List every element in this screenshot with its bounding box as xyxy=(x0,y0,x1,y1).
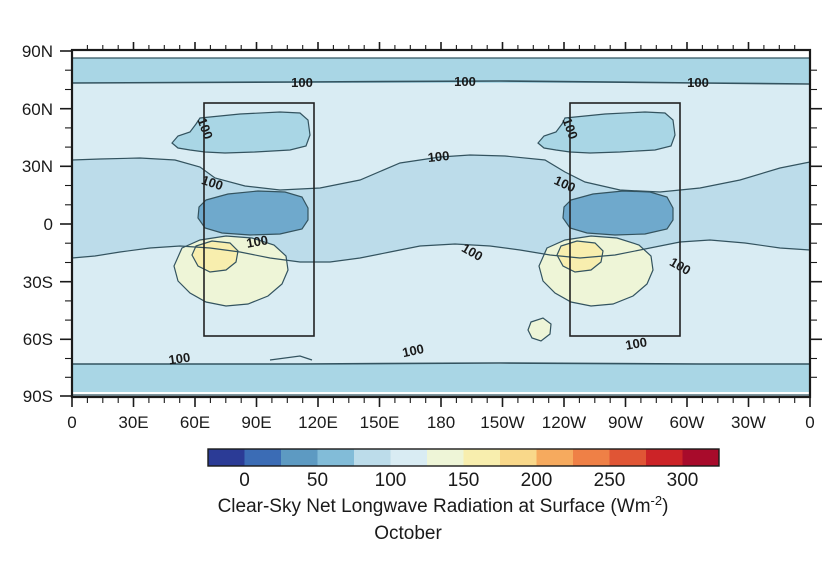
caption-superscript: -2 xyxy=(651,493,663,508)
x-major-ticks xyxy=(72,397,810,407)
y-tick-label: 60S xyxy=(23,330,53,349)
figure-caption: Clear-Sky Net Longwave Radiation at Surf… xyxy=(218,493,669,517)
y-right-ticks xyxy=(810,109,822,340)
y-axis-tick-labels: 90N 60N 30N 0 30S 60S 90S xyxy=(22,42,53,406)
y-tick-label: 90N xyxy=(22,42,53,61)
colorbar-swatch xyxy=(646,449,683,466)
colorbar-swatch xyxy=(573,449,610,466)
y-tick-label: 90S xyxy=(23,387,53,406)
colorbar-swatch xyxy=(208,449,245,466)
colorbar-tick-label: 250 xyxy=(594,470,626,491)
x-axis-tick-labels: 0 30E 60E 90E 120E 150E 180 150W 120W 90… xyxy=(67,413,814,432)
x-tick-label: 90E xyxy=(241,413,271,432)
x-tick-label: 150E xyxy=(360,413,400,432)
colorbar-swatch xyxy=(610,449,647,466)
colorbar-tick-label: 0 xyxy=(239,470,250,491)
y-tick-label: 60N xyxy=(22,100,53,119)
x-tick-label: 120W xyxy=(542,413,586,432)
field-north-gap xyxy=(72,50,810,58)
x-tick-label: 150W xyxy=(480,413,524,432)
colorbar-swatch xyxy=(683,449,720,466)
caption-tail: ) xyxy=(662,496,668,517)
field-south-polar-band xyxy=(72,364,810,395)
x-tick-label: 90W xyxy=(608,413,643,432)
caption-main: Clear-Sky Net Longwave Radiation at Surf… xyxy=(218,496,651,517)
x-tick-label: 30W xyxy=(731,413,766,432)
colorbar-swatch xyxy=(245,449,282,466)
colorbar-tick-label: 300 xyxy=(667,470,699,491)
contour-label: 100 xyxy=(687,75,709,90)
contour-label: 100 xyxy=(427,148,450,165)
colorbar-tick-labels: 0 50 100 150 200 250 300 xyxy=(239,470,698,491)
colorbar-swatch xyxy=(354,449,391,466)
colorbar-swatch xyxy=(427,449,464,466)
colorbar-tick-label: 50 xyxy=(307,470,328,491)
x-tick-label: 30E xyxy=(118,413,148,432)
figure-subtitle: October xyxy=(374,523,442,544)
contour-map-figure: 100 100 100 100 100 100 100 100 100 100 … xyxy=(0,0,840,580)
colorbar-swatch xyxy=(500,449,537,466)
colorbar-tick-label: 150 xyxy=(448,470,480,491)
map-field: 100 100 100 100 100 100 100 100 100 100 … xyxy=(72,50,810,398)
colorbar-swatch xyxy=(391,449,428,466)
y-tick-label: 0 xyxy=(44,215,53,234)
x-tick-label: 60E xyxy=(180,413,210,432)
colorbar-swatch xyxy=(318,449,355,466)
colorbar-swatch xyxy=(281,449,318,466)
colorbar-swatches xyxy=(208,449,719,466)
colorbar: 0 50 100 150 200 250 300 xyxy=(208,449,719,491)
x-tick-label: 180 xyxy=(427,413,455,432)
colorbar-tick-label: 200 xyxy=(521,470,553,491)
colorbar-tick-label: 100 xyxy=(375,470,407,491)
x-tick-label: 120E xyxy=(298,413,338,432)
colorbar-swatch xyxy=(537,449,574,466)
contour-label: 100 xyxy=(291,75,313,90)
contour-label: 100 xyxy=(454,74,476,89)
y-tick-label: 30S xyxy=(23,273,53,292)
x-tick-label: 0 xyxy=(67,413,76,432)
x-tick-label: 0 xyxy=(805,413,814,432)
y-major-ticks xyxy=(60,51,72,396)
x-tick-label: 60W xyxy=(670,413,705,432)
contour-label: 100 xyxy=(168,350,192,368)
figure-root: 100 100 100 100 100 100 100 100 100 100 … xyxy=(0,0,840,580)
colorbar-swatch xyxy=(464,449,501,466)
y-tick-label: 30N xyxy=(22,157,53,176)
